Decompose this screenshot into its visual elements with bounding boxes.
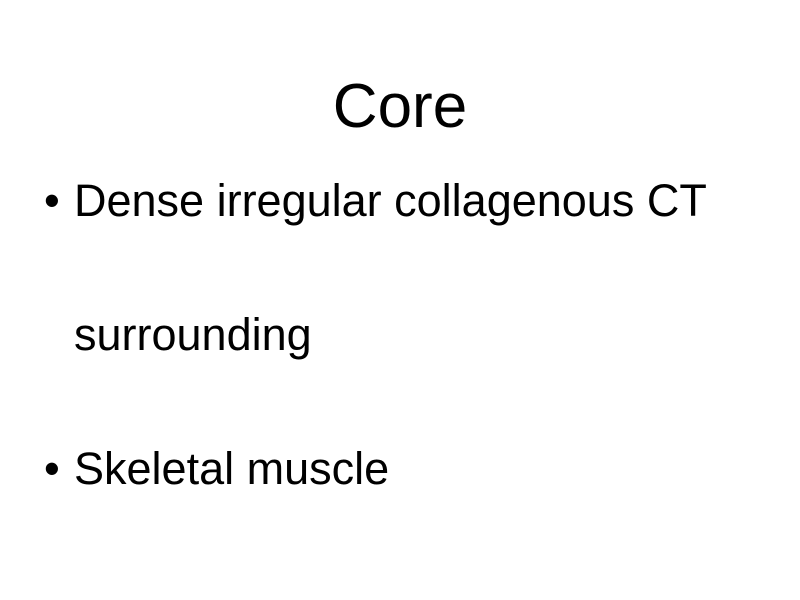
list-item: • Dense irregular collagenous CT bbox=[44, 134, 764, 268]
list-item-label: Dense irregular collagenous CT bbox=[74, 134, 707, 268]
bullet-icon: • bbox=[44, 134, 74, 268]
list-item-continuation: surrounding bbox=[44, 268, 764, 402]
page-title: Core bbox=[0, 76, 800, 138]
list-item: • Skeletal muscle bbox=[44, 402, 764, 536]
list-item-continuation-label: surrounding bbox=[74, 268, 312, 402]
bullet-list: • Dense irregular collagenous CT surroun… bbox=[44, 134, 764, 536]
list-item-label: Skeletal muscle bbox=[74, 402, 389, 536]
bullet-icon: • bbox=[44, 402, 74, 536]
slide: Core • Dense irregular collagenous CT su… bbox=[0, 0, 800, 600]
